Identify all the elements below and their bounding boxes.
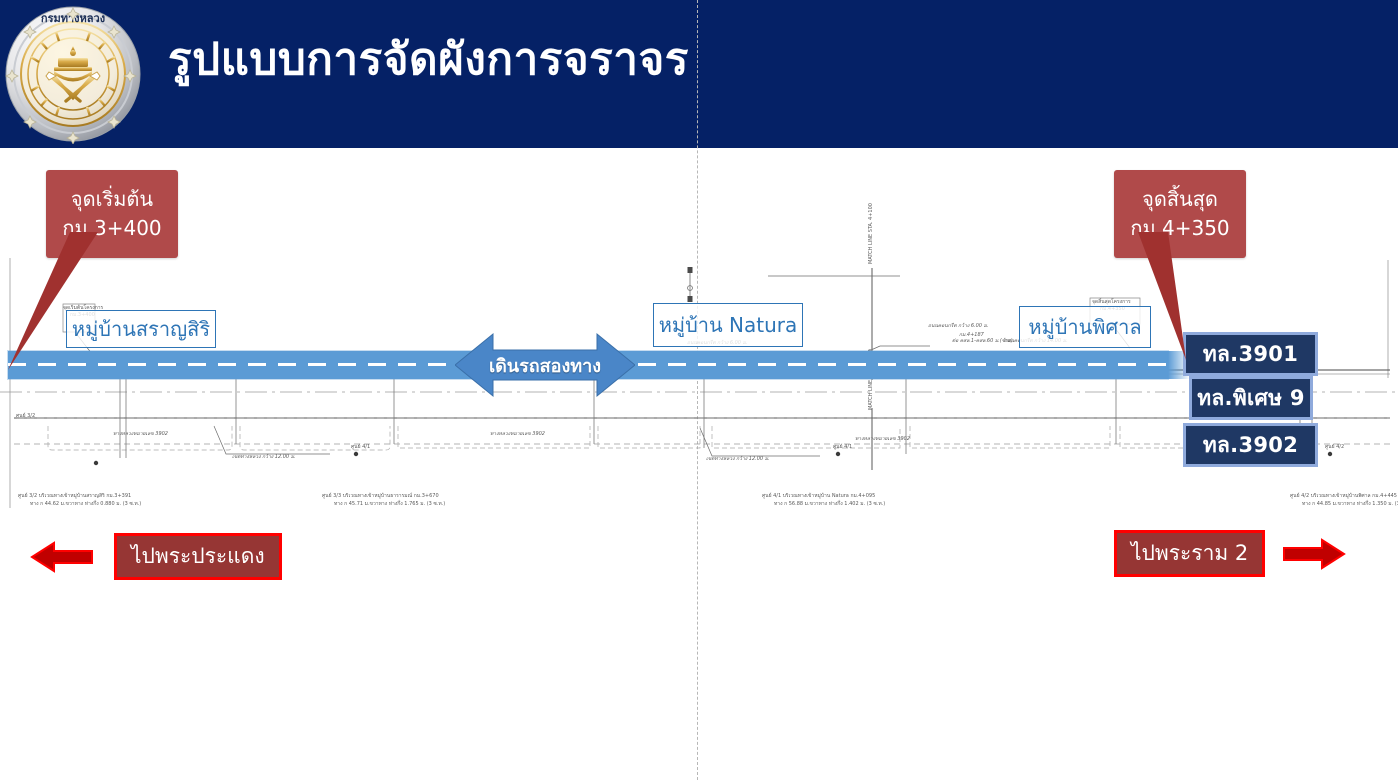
cad-note-row-12b: เขตทางหลวง กว้าง 12.00 ม. <box>706 456 770 464</box>
end-point-callout: จุดสิ้นสุด กม.4+350 <box>1114 170 1246 258</box>
two-way-direction-label: เดินรถสองทาง <box>455 330 635 400</box>
page-header: กรมทางหลวง รูปแบบการจัดผังการจราจร <box>0 0 1398 148</box>
cad-sta-label-mid: ศูนย์ 4/1 <box>351 444 370 452</box>
cad-sta-label-left: ศูนย์ 3/2 <box>16 413 35 421</box>
direction-left-label: ไปพระประแดง <box>114 533 282 580</box>
department-of-highways-emblem-icon: กรมทางหลวง <box>4 2 142 144</box>
cad-note-road-width-6: ถนนคอนกรีต กว้าง 6.00 ม. <box>928 323 988 331</box>
cad-sta-label-mid2: ศูนย์ 4/1 <box>833 444 852 452</box>
cad-footnote-3-line1: ศูนย์ 4/1 บริเวณทางเข้าหมู่บ้าน Natura ก… <box>762 493 875 501</box>
cad-footnote-1-line1: ศูนย์ 3/2 บริเวณทางเข้าหมู่บ้านสราญสิริ … <box>18 493 131 501</box>
cad-note-highway-3902-a: ทางหลวงหมายเลข 3902 <box>113 431 168 439</box>
cad-footnote-3-line2: ทาง ก 56.88 ม.ขวาทาง ห่างกึ่ง 1.402 ม. (… <box>774 501 885 509</box>
village-label-natura: หมู่บ้าน Natura <box>653 303 803 347</box>
start-callout-line1: จุดเริ่มต้น <box>71 185 153 214</box>
cad-note-highway-3902-c: ทางหลวงหมายเลข 3902 <box>855 436 910 444</box>
page-title: รูปแบบการจัดผังการจราจร <box>168 36 689 84</box>
route-plate-3902: ทล.3902 <box>1183 423 1318 467</box>
cad-footnote-4-line1: ศูนย์ 4/2 บริเวณทางเข้าหมู่บ้านพิศาล กม.… <box>1290 493 1397 501</box>
end-callout-line1: จุดสิ้นสุด <box>1142 185 1218 214</box>
two-way-direction-arrow: เดินรถสองทาง <box>455 330 635 400</box>
arrow-left-icon <box>30 539 94 575</box>
direction-right-label: ไปพระราม 2 <box>1114 530 1265 577</box>
cad-match-line-top: MATCH LINE STA. 4+100 <box>868 203 876 264</box>
start-point-callout: จุดเริ่มต้น กม.3+400 <box>46 170 178 258</box>
cad-sta-label-right: ศูนย์ 4/2 <box>1325 444 1344 452</box>
cad-note-km-4187-l2: ต่อ คสล.1-คสล.60 ม.(ซ้าย) <box>952 338 1013 346</box>
cad-note-highway-3902-b: ทางหลวงหมายเลข 3902 <box>490 431 545 439</box>
route-plate-motorway-9: ทล.พิเศษ 9 <box>1189 376 1313 420</box>
arrow-right-icon <box>1282 536 1346 572</box>
cad-footnote-2-line2: ทาง ก 45.71 ม.ขวาทาง ห่างกึ่ง 1.765 ม. (… <box>334 501 445 509</box>
cad-footnote-2-line1: ศูนย์ 3/3 บริเวณทางเข้าหมู่บ้านธารารมณ์ … <box>322 493 439 501</box>
village-label-phisan: หมู่บ้านพิศาล <box>1019 306 1151 348</box>
cad-note-row-12a: เขตทางหลวง กว้าง 12.00 ม. <box>232 454 296 462</box>
cad-footnote-1-line2: ทาง ก 44.62 ม.ขวาทาง ห่างกึ่ง 0.880 ม. (… <box>30 501 141 509</box>
traffic-layout-diagram: จุดเริ่มต้นโครงการ กม.3+400 จุดสิ้นสุดโค… <box>0 148 1398 780</box>
cad-footnote-4-line2: ทาง ก 44.85 ม.ขวาทาง ห่างกึ่ง 1.350 ม. (… <box>1302 501 1398 509</box>
